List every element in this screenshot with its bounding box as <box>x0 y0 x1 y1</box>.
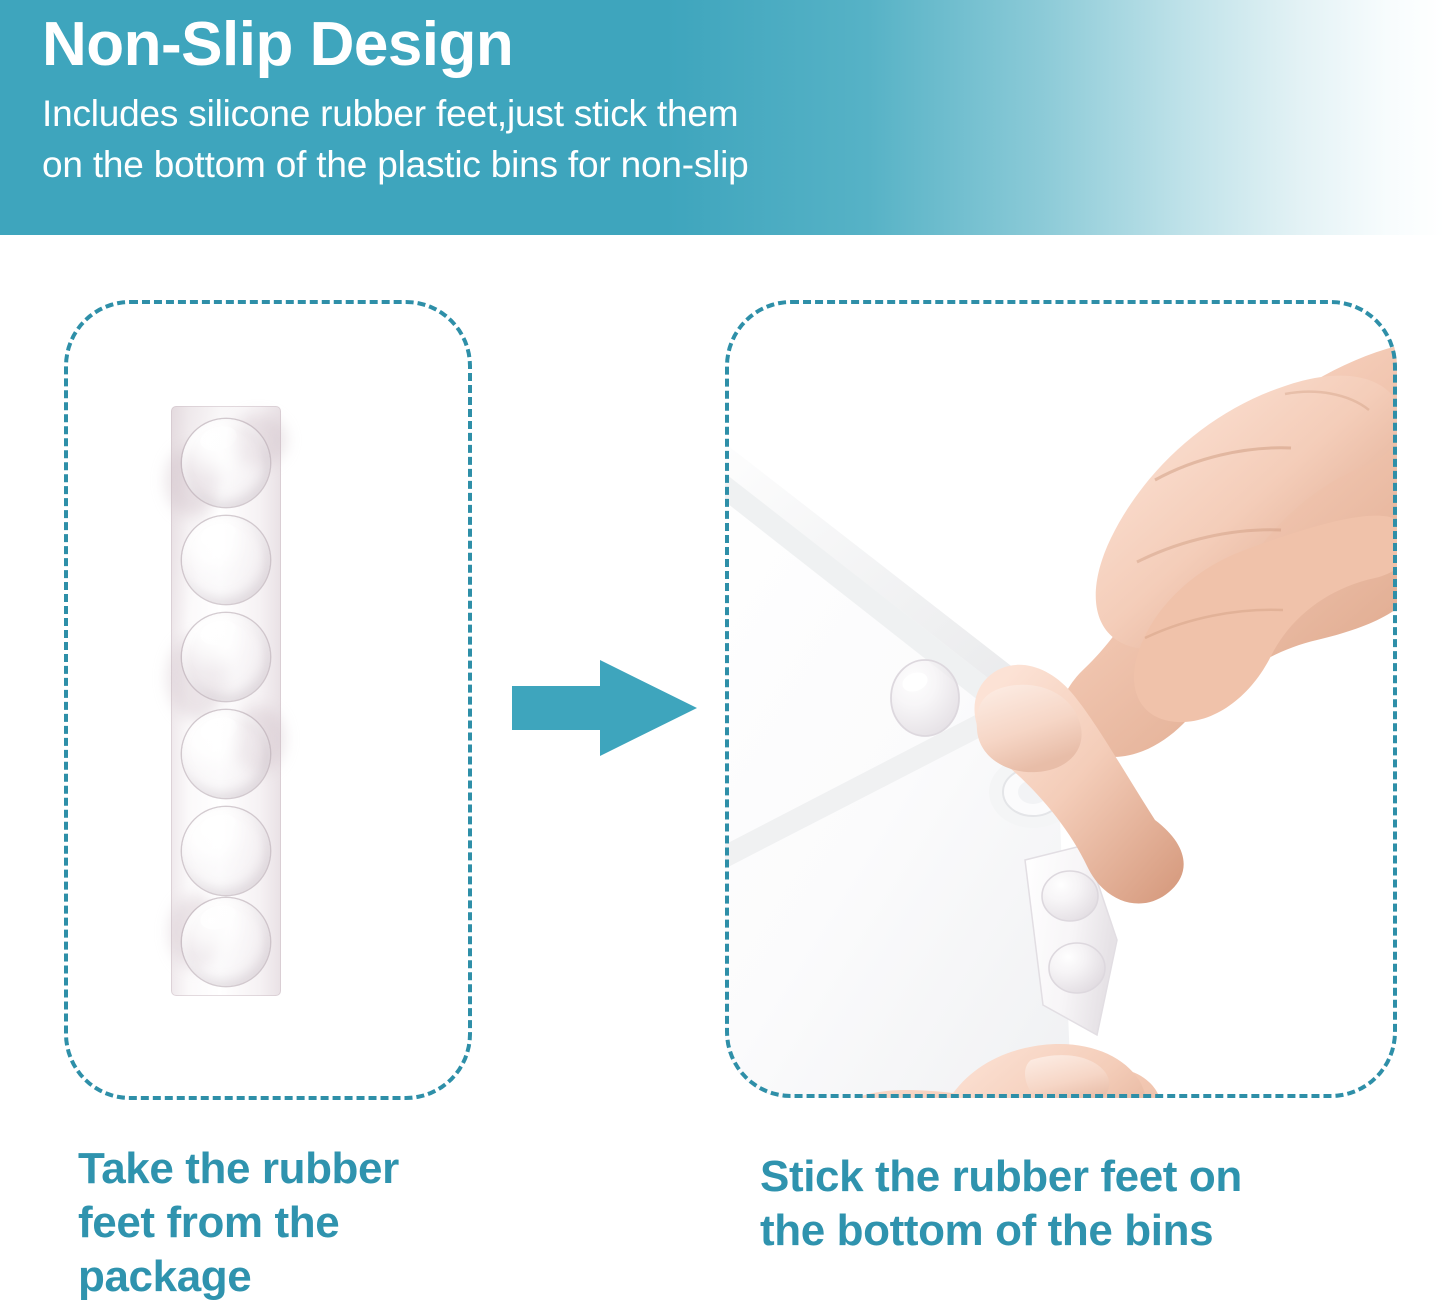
rubber-foot-dome <box>182 807 270 895</box>
caption-left-line-1: Take the rubber <box>78 1142 548 1196</box>
product-infographic: Non-Slip Design Includes silicone rubber… <box>0 0 1445 1306</box>
rubber-foot-dome <box>182 419 270 507</box>
header-subtitle-line-2: on the bottom of the plastic bins for no… <box>42 139 1142 190</box>
header-subtitle-line-1: Includes silicone rubber feet,just stick… <box>42 88 1142 139</box>
rubber-foot-dome <box>182 613 270 701</box>
header-banner: Non-Slip Design Includes silicone rubber… <box>0 0 1445 235</box>
rubber-feet-strip <box>171 406 281 996</box>
caption-right-line-1: Stick the rubber feet on <box>760 1150 1420 1204</box>
caption-left-line-3: package <box>78 1250 548 1304</box>
rubber-foot-dome <box>182 898 270 986</box>
header-text-block: Non-Slip Design Includes silicone rubber… <box>42 8 1142 190</box>
caption-right: Stick the rubber feet on the bottom of t… <box>760 1150 1420 1258</box>
page-title: Non-Slip Design <box>42 8 1142 82</box>
header-subtitle: Includes silicone rubber feet,just stick… <box>42 88 1142 190</box>
rubber-foot-dome <box>182 516 270 604</box>
caption-left-line-2: feet from the <box>78 1196 548 1250</box>
rubber-foot-dome <box>182 710 270 798</box>
caption-left: Take the rubber feet from the package <box>78 1142 548 1304</box>
panel-stick-rubber-feet <box>725 300 1397 1098</box>
caption-right-line-2: the bottom of the bins <box>760 1204 1420 1258</box>
right-arrow-icon <box>512 660 697 756</box>
